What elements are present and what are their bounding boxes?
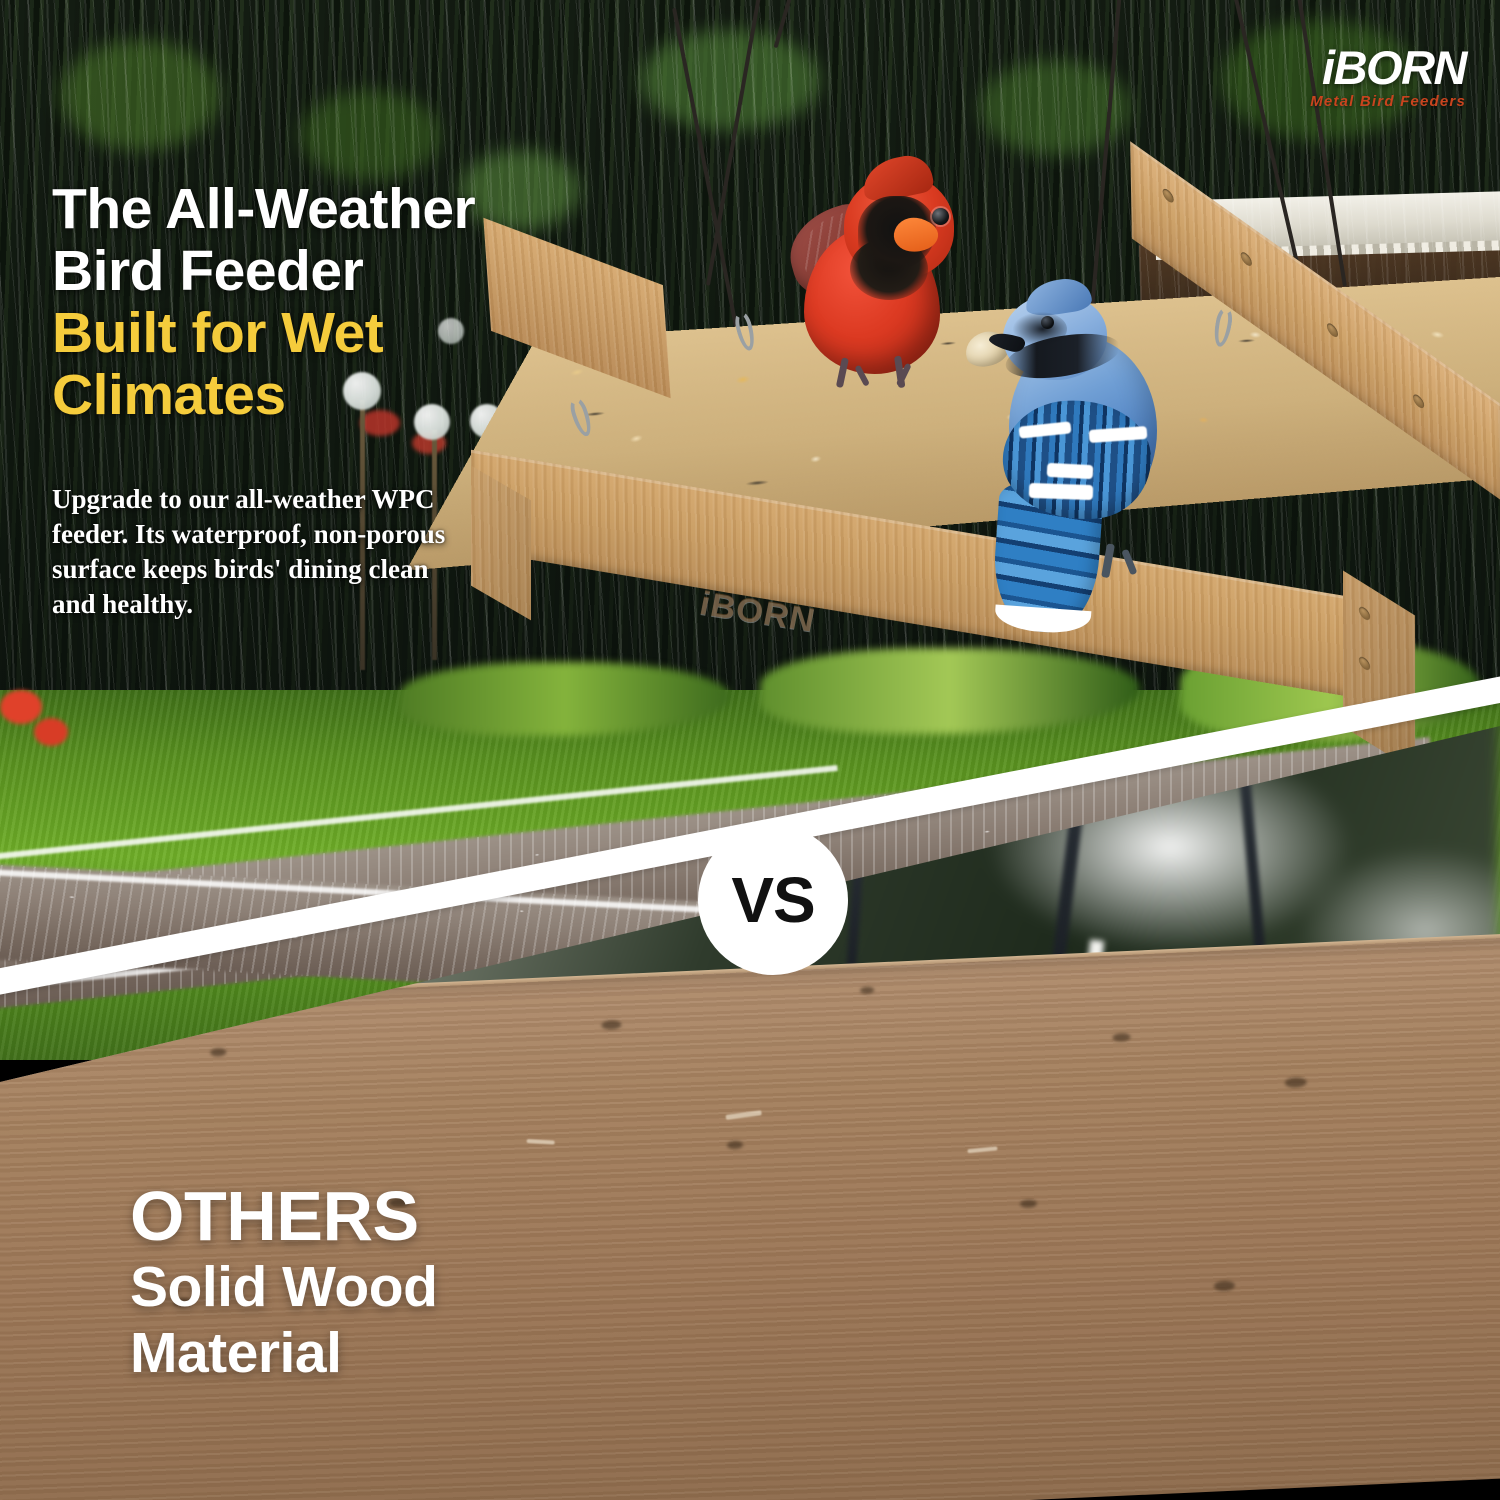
foliage-blotch	[60, 40, 220, 150]
wood-knot	[727, 1141, 743, 1150]
others-subtitle-line-2: Material	[130, 1320, 750, 1386]
headline-line-4: Climates	[52, 364, 672, 426]
brand-logo: iBORN Metal Bird Feeders	[1310, 44, 1466, 110]
logo-wordmark: iBORN	[1310, 44, 1466, 92]
screw	[1359, 655, 1370, 673]
feeder-end-cap-right	[1343, 571, 1415, 772]
vs-label: VS	[731, 863, 814, 937]
wood-splinter	[967, 1146, 997, 1153]
bluejay-wing-bar	[1047, 463, 1094, 479]
headline-line-3: Built for Wet	[52, 302, 672, 364]
bluejay-eye	[1041, 316, 1054, 329]
wood-knot	[1112, 1033, 1130, 1042]
subcopy-paragraph: Upgrade to our all-weather WPC feeder. I…	[52, 482, 452, 622]
wood-knot	[860, 987, 874, 995]
headline-line-2: Bird Feeder	[52, 240, 672, 302]
bluejay-foot	[1101, 543, 1115, 578]
others-title: OTHERS	[130, 1178, 750, 1254]
wood-splinter	[527, 1139, 555, 1145]
foliage-blotch	[640, 30, 820, 130]
others-block: OTHERS Solid Wood Material	[130, 1178, 750, 1386]
foliage-blotch	[300, 90, 440, 180]
wood-knot	[1214, 1280, 1235, 1291]
red-flower	[0, 690, 42, 724]
wood-splinter	[725, 1110, 761, 1120]
screw	[1241, 250, 1252, 269]
screw	[1359, 605, 1370, 623]
northern-cardinal-bird	[790, 152, 970, 382]
others-subtitle-line-1: Solid Wood	[130, 1254, 750, 1320]
wood-knot	[1285, 1077, 1307, 1088]
headline-line-1: The All-Weather	[52, 178, 672, 240]
wood-knot	[210, 1048, 226, 1057]
bluejay-foot	[1121, 549, 1137, 576]
wood-knot	[1020, 1199, 1037, 1208]
bluejay-wing-bar	[1029, 483, 1093, 500]
cardinal-eye	[932, 208, 949, 225]
vs-badge: VS	[698, 825, 848, 975]
screw	[1163, 186, 1174, 205]
screw	[1327, 321, 1338, 340]
product-comparison-graphic: iBORN	[0, 0, 1500, 1500]
wood-grain	[1343, 571, 1415, 772]
headline-block: The All-Weather Bird Feeder Built for We…	[52, 178, 672, 426]
blue-jay-bird	[985, 288, 1185, 633]
wood-knot	[601, 1020, 621, 1030]
screw	[1413, 392, 1424, 411]
red-flower	[34, 718, 68, 746]
logo-tagline: Metal Bird Feeders	[1310, 93, 1466, 110]
